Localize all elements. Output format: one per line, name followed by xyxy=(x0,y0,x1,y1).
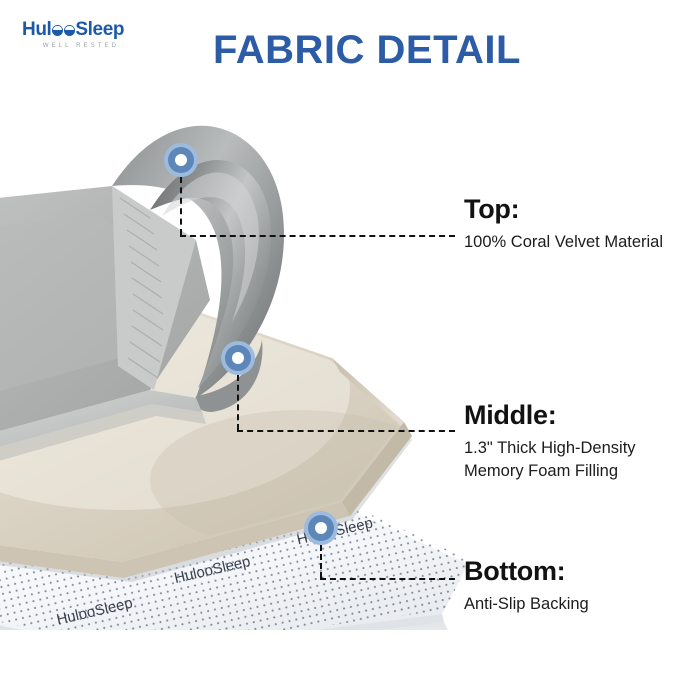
callout-middle: Middle: 1.3" Thick High-Density Memory F… xyxy=(464,400,679,483)
brand-name-suffix: Sleep xyxy=(75,19,124,40)
leader-line-top-vertical xyxy=(180,177,182,235)
callout-marker-bottom[interactable] xyxy=(304,511,338,545)
leader-line-middle-vertical xyxy=(237,375,239,430)
leader-line-top-horizontal xyxy=(180,235,455,237)
callout-marker-top[interactable] xyxy=(164,143,198,177)
callout-bottom-title: Bottom: xyxy=(464,556,679,586)
brand-logo: HulSleep WELL RESTED xyxy=(22,20,152,56)
leader-line-bottom-vertical xyxy=(320,545,322,578)
brand-tagline: WELL RESTED xyxy=(22,43,140,49)
callout-top: Top: 100% Coral Velvet Material xyxy=(464,194,679,254)
callout-marker-middle[interactable] xyxy=(221,341,255,375)
logo-sleepy-eye-right-icon xyxy=(64,25,75,36)
callout-bottom: Bottom: Anti-Slip Backing xyxy=(464,556,679,616)
logo-sleepy-eye-left-icon xyxy=(52,25,63,36)
callout-middle-description: 1.3" Thick High-Density Memory Foam Fill… xyxy=(464,437,679,483)
leader-line-bottom-horizontal xyxy=(320,578,455,580)
callout-middle-title: Middle: xyxy=(464,400,679,430)
brand-wordmark: HulSleep xyxy=(22,20,152,40)
product-infographic: HulSleep WELL RESTED FABRIC DETAIL xyxy=(0,0,679,679)
callout-top-description: 100% Coral Velvet Material xyxy=(464,231,679,254)
callout-top-title: Top: xyxy=(464,194,679,224)
brand-name-prefix: Hul xyxy=(22,19,51,40)
callout-bottom-description: Anti-Slip Backing xyxy=(464,593,679,616)
page-title: FABRIC DETAIL xyxy=(213,28,521,73)
leader-line-middle-horizontal xyxy=(237,430,455,432)
